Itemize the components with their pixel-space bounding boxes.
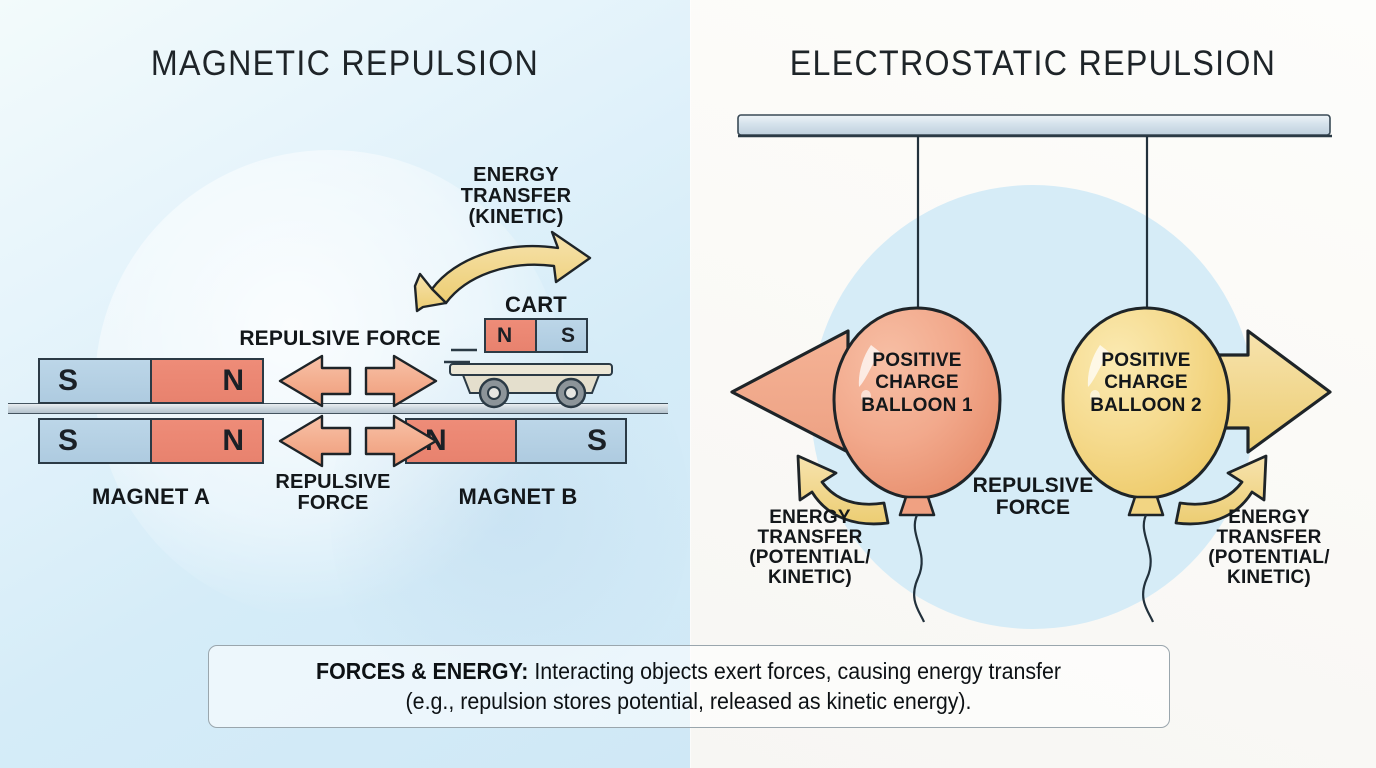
summary-banner-text: FORCES & ENERGY: Interacting objects exe…: [317, 657, 1062, 716]
label-balloon-2: POSITIVE CHARGE BALLOON 2: [1076, 350, 1216, 417]
label-magnet-b: MAGNET B: [438, 485, 598, 508]
page-title-left: MAGNETIC REPULSION: [28, 44, 663, 84]
summary-banner: FORCES & ENERGY: Interacting objects exe…: [208, 645, 1170, 728]
magnet-a: S N: [38, 418, 264, 464]
magnet-a-pole-n: N: [152, 420, 262, 462]
magnet-b: N S: [405, 418, 627, 464]
label-energy-transfer-kinetic: ENERGY TRANSFER (KINETIC): [432, 165, 600, 229]
cart-magnet-pole-n: N: [486, 320, 537, 351]
label-energy-transfer-right: ENERGY TRANSFER (POTENTIAL/ KINETIC): [1190, 508, 1348, 589]
label-repulsive-force-top: REPULSIVE FORCE: [232, 328, 448, 350]
label-magnet-a: MAGNET A: [71, 485, 231, 508]
label-repulsive-force-bottom: REPULSIVE FORCE: [253, 472, 413, 514]
summary-banner-line2: (e.g., repulsion stores potential, relea…: [406, 688, 972, 714]
label-repulsive-force-center: REPULSIVE FORCE: [958, 475, 1108, 520]
magnet-top-pole-s: S: [40, 360, 152, 402]
label-balloon-1: POSITIVE CHARGE BALLOON 1: [847, 350, 987, 417]
page-title-right: ELECTROSTATIC REPULSION: [717, 44, 1348, 84]
label-cart: CART: [465, 293, 607, 316]
label-energy-transfer-left: ENERGY TRANSFER (POTENTIAL/ KINETIC): [735, 508, 885, 589]
cart-magnet-pole-s: S: [537, 320, 586, 351]
magnet-b-pole-n: N: [407, 420, 517, 462]
magnet-on-cart: N S: [484, 318, 588, 353]
summary-banner-lead: FORCES & ENERGY:: [317, 658, 529, 684]
magnet-top-pole-n: N: [152, 360, 262, 402]
summary-banner-line1: Interacting objects exert forces, causin…: [529, 658, 1062, 684]
magnet-b-pole-s: S: [517, 420, 625, 462]
cart: [449, 348, 613, 408]
magnet-a-pole-s: S: [40, 420, 152, 462]
magnet-top: S N: [38, 358, 264, 404]
diagram-canvas: MAGNETIC REPULSION ELECTROSTATIC REPULSI…: [0, 0, 1376, 768]
